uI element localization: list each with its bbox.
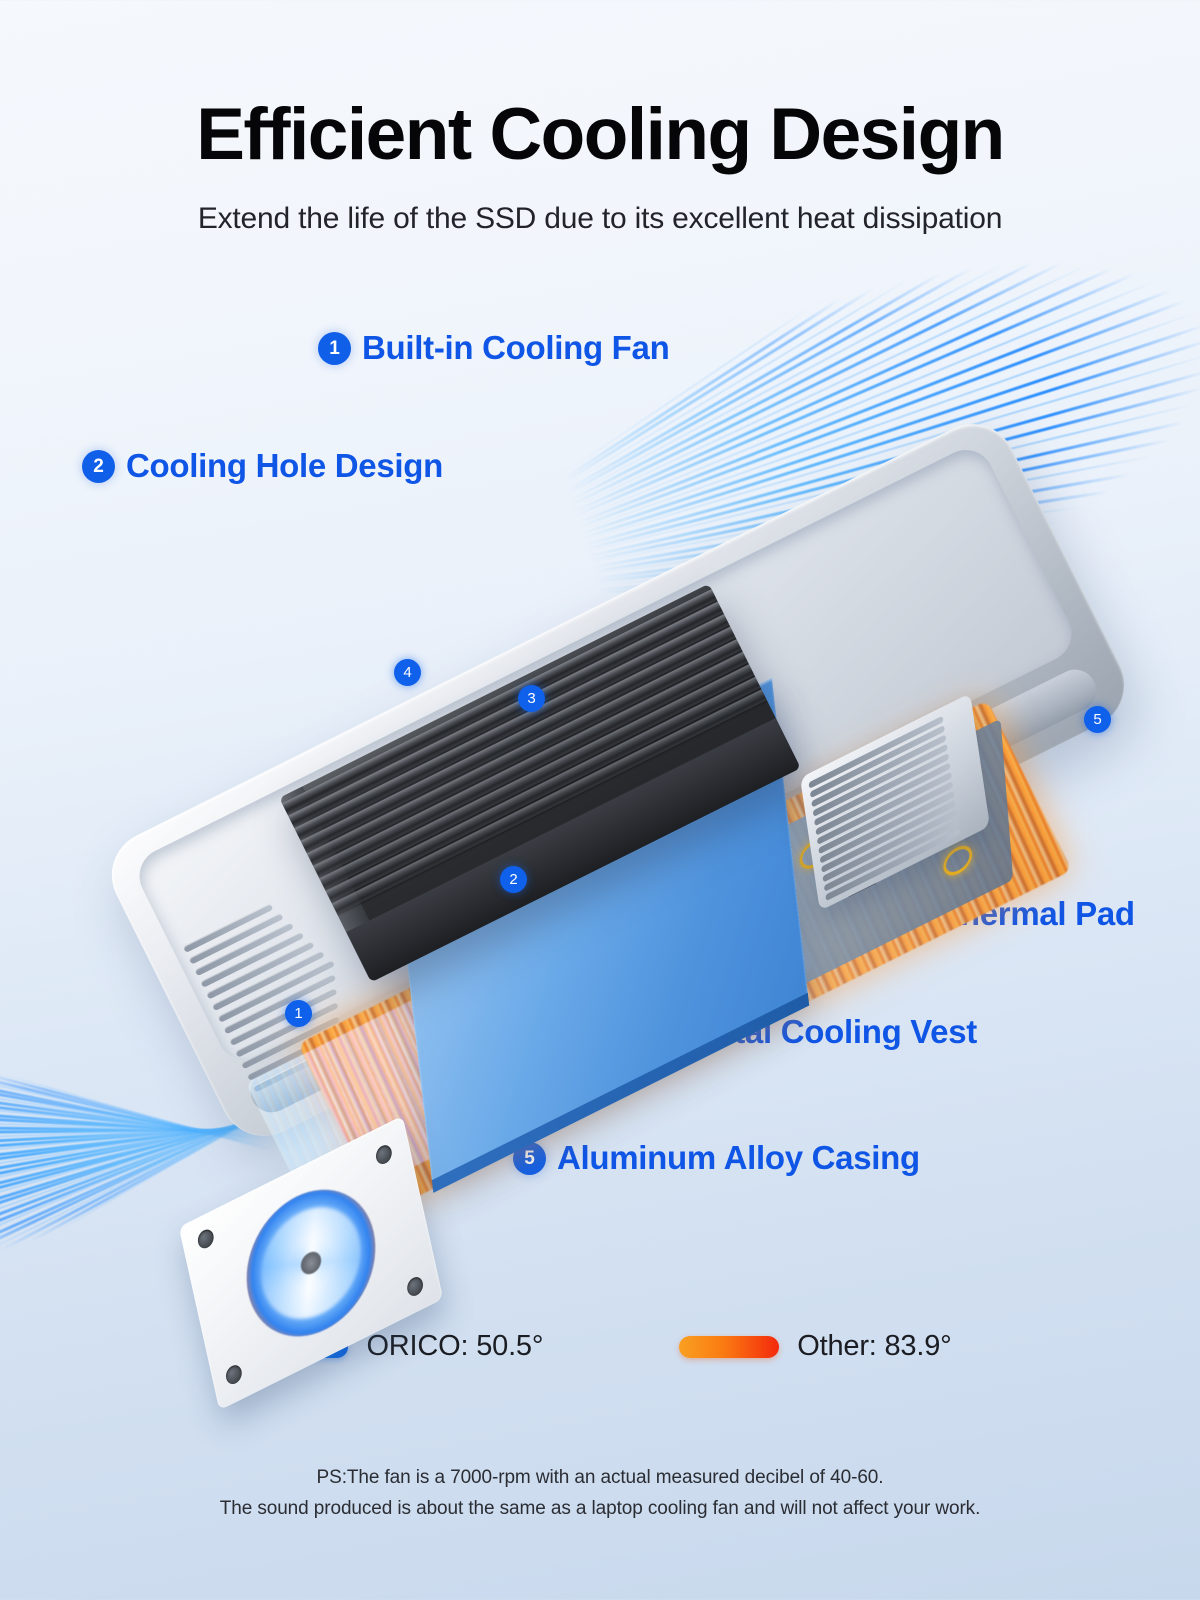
marker-4-cooling-vest: 4	[394, 659, 421, 686]
footnote-line-2: The sound produced is about the same as …	[0, 1493, 1200, 1524]
callout-aluminum-alloy-casing: 5 Aluminum Alloy Casing	[513, 1139, 920, 1177]
callout-label-2: Cooling Hole Design	[126, 447, 443, 485]
airflow-streak	[563, 279, 908, 488]
built-in-cooling-fan	[179, 1116, 443, 1411]
marker-5-casing: 5	[1084, 706, 1111, 733]
airflow-streak	[564, 272, 941, 492]
fan-blade-glow	[234, 1165, 389, 1360]
airflow-streak	[0, 1122, 284, 1180]
footnote-line-1: PS:The fan is a 7000-rpm with an actual …	[0, 1462, 1200, 1493]
airflow-streak	[0, 1124, 283, 1170]
airflow-streak	[0, 1119, 286, 1204]
legend-item-other: Other: 83.9°	[679, 1330, 951, 1363]
callout-label-5: Aluminum Alloy Casing	[557, 1139, 920, 1177]
callout-badge-2: 2	[82, 450, 115, 483]
callout-badge-1: 1	[318, 332, 351, 365]
page-subtitle: Extend the life of the SSD due to its ex…	[0, 202, 1200, 236]
infographic-stage: Efficient Cooling Design Extend the life…	[0, 0, 1200, 1600]
airflow-streak	[571, 267, 1113, 514]
marker-3-thermal-pad: 3	[518, 685, 545, 712]
page-title: Efficient Cooling Design	[0, 98, 1200, 171]
airflow-streak	[0, 1127, 282, 1147]
footnote: PS:The fan is a 7000-rpm with an actual …	[0, 1462, 1200, 1524]
legend-pill-hot	[679, 1336, 779, 1358]
legend-label-other: Other: 83.9°	[797, 1330, 951, 1363]
legend-label-orico: ORICO: 50.5°	[366, 1330, 543, 1363]
airflow-streak	[0, 1128, 281, 1136]
callout-cooling-hole-design: 2 Cooling Hole Design	[82, 447, 443, 485]
marker-1-fan: 1	[285, 1000, 312, 1027]
callout-label-1: Built-in Cooling Fan	[362, 329, 669, 367]
airflow-streak	[0, 1125, 282, 1158]
airflow-streak	[560, 297, 842, 482]
marker-2-cooling-hole: 2	[500, 866, 527, 893]
callout-built-in-cooling-fan: 1 Built-in Cooling Fan	[318, 329, 669, 367]
temperature-legend: ORICO: 50.5° Other: 83.9°	[0, 1330, 1200, 1363]
airflow-streak	[562, 287, 876, 485]
airflow-streak	[0, 1121, 285, 1193]
